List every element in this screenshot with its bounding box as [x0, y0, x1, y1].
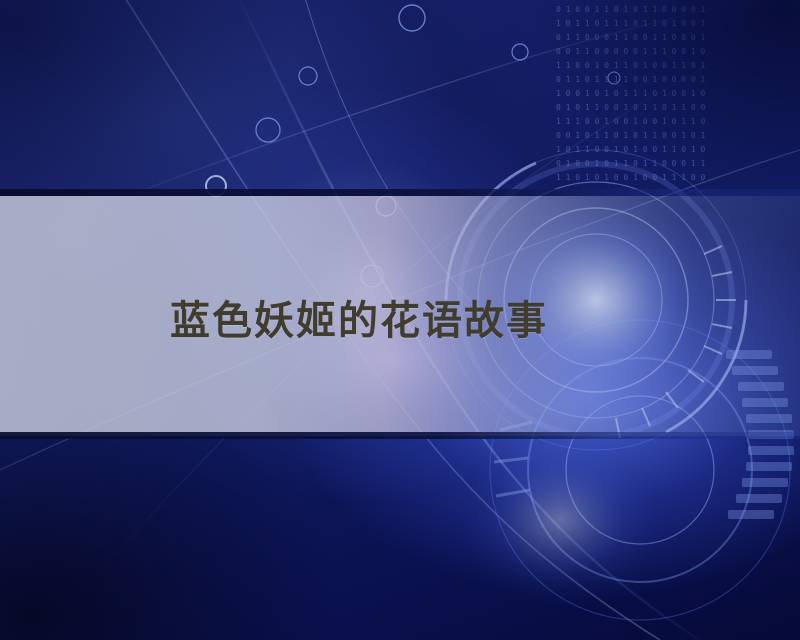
banner-rule-bottom: [0, 432, 800, 439]
banner-rule-top: [0, 189, 800, 196]
page-title: 蓝色妖姬的花语故事: [170, 295, 548, 347]
image-canvas: 0 1 0 0 1 1 0 1 0 1 1 0 0 0 0 1 1 0 1 1 …: [0, 0, 800, 640]
